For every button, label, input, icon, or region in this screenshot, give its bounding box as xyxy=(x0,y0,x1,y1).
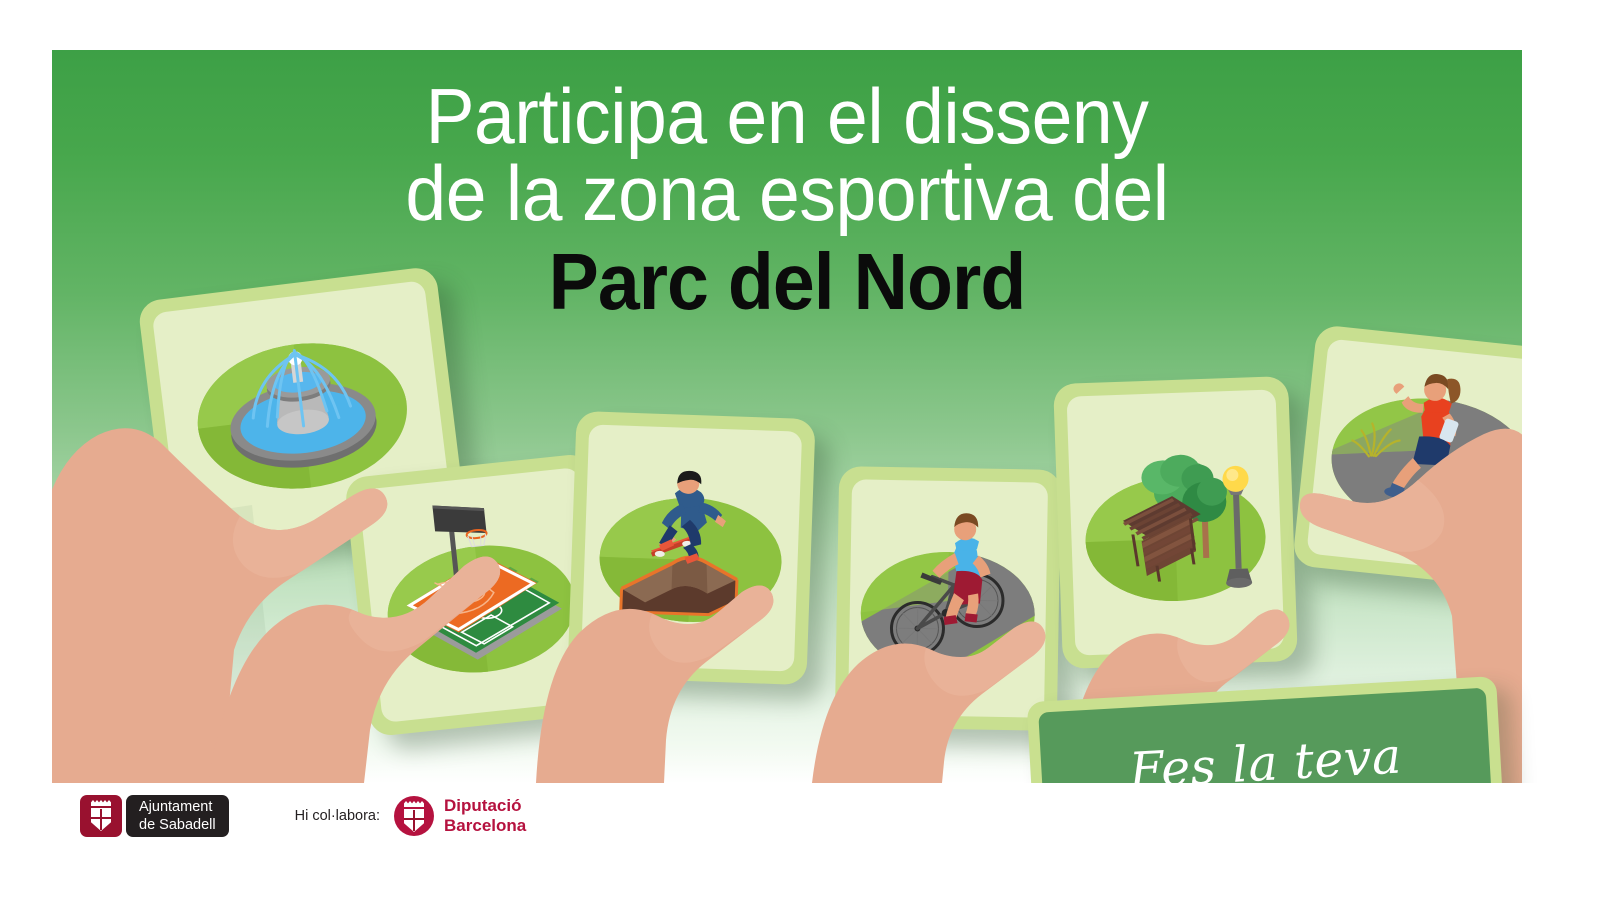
crown-icon xyxy=(404,801,424,807)
ajuntament-de-sabadell-logo[interactable]: Ajuntament de Sabadell xyxy=(80,795,229,837)
diputacio-line-1: Diputació xyxy=(444,796,521,815)
diputacio-coat-of-arms-icon xyxy=(394,796,434,836)
cross-icon xyxy=(91,809,111,830)
sabadell-line-2: de Sabadell xyxy=(139,816,216,834)
sabadell-line-1: Ajuntament xyxy=(139,798,216,816)
cross-icon xyxy=(404,810,424,831)
crown-icon xyxy=(91,800,111,806)
hands-layer xyxy=(52,50,1522,783)
hand-pointing-bike xyxy=(812,621,1045,783)
diputacio-wordmark: Diputació Barcelona xyxy=(444,796,526,835)
poster-canvas: Participa en el disseny de la zona espor… xyxy=(0,0,1600,900)
collaborator-label: Hi col·labora: xyxy=(295,808,380,824)
footer-logo-bar: Ajuntament de Sabadell Hi col·labora: xyxy=(0,783,1600,900)
sabadell-coat-of-arms-icon xyxy=(80,795,122,837)
logo-row: Ajuntament de Sabadell Hi col·labora: xyxy=(80,795,526,837)
sabadell-wordmark: Ajuntament de Sabadell xyxy=(126,795,229,837)
hand-pointing-skate xyxy=(536,585,773,783)
diputacio-barcelona-logo[interactable]: Diputació Barcelona xyxy=(394,796,526,836)
green-gradient-panel: Participa en el disseny de la zona espor… xyxy=(52,50,1522,783)
collaborator-block: Hi col·labora: Diputació Barcelona xyxy=(295,796,527,836)
diputacio-line-2: Barcelona xyxy=(444,816,526,835)
